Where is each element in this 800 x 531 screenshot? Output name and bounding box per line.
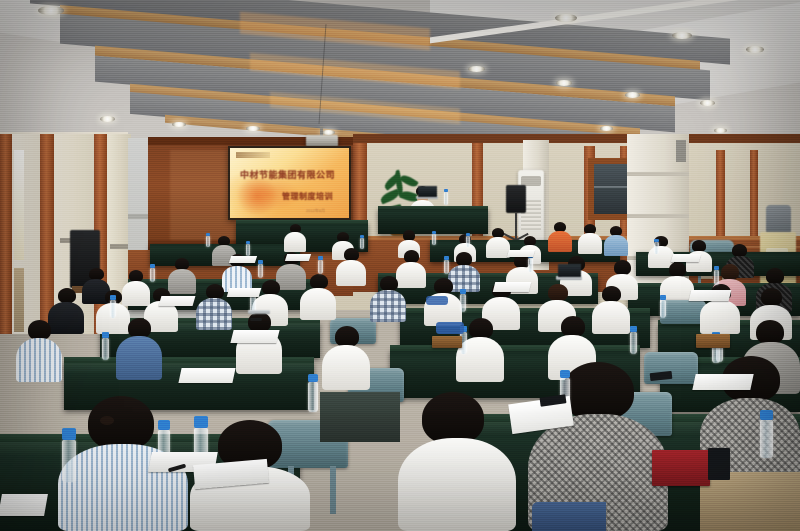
downlight xyxy=(556,80,572,86)
water-bottle xyxy=(444,260,449,274)
attendee xyxy=(578,224,602,254)
water-bottle xyxy=(466,236,470,247)
laptop xyxy=(248,310,270,314)
water-bottle xyxy=(444,192,448,205)
water-bottle xyxy=(62,440,76,482)
attendee xyxy=(16,320,62,382)
water-bottle xyxy=(110,300,116,318)
downlight xyxy=(700,100,715,106)
attendee xyxy=(236,312,282,374)
attendee xyxy=(300,274,336,320)
handout-paper xyxy=(227,288,262,297)
water-bottle xyxy=(206,236,210,247)
downlight xyxy=(246,126,260,131)
attendee xyxy=(398,392,516,531)
handout-paper xyxy=(507,250,535,257)
downlight xyxy=(38,6,64,15)
slide-subtitle: 管理制度培训 xyxy=(282,192,346,201)
attendee xyxy=(322,326,370,390)
downlight xyxy=(672,32,692,39)
conference-room-photo: 中材节能集团有限公司 管理制度培训 2012年8月 xyxy=(0,0,800,531)
water-bottle xyxy=(714,270,719,285)
water-bottle xyxy=(432,234,436,245)
water-bottle xyxy=(460,294,466,312)
water-dispenser-bottle xyxy=(766,205,791,233)
attendee xyxy=(336,248,366,286)
handout-paper xyxy=(230,330,279,343)
downlight xyxy=(468,66,485,72)
water-bottle xyxy=(102,338,109,360)
water-bottle xyxy=(318,260,323,274)
folded-cloth xyxy=(426,296,448,305)
water-bottle xyxy=(528,258,533,272)
water-bottle xyxy=(258,264,263,278)
pen xyxy=(250,318,262,321)
floor-speaker xyxy=(506,185,526,213)
attendee xyxy=(116,318,162,380)
handout-paper xyxy=(689,290,732,301)
handout-paper xyxy=(671,254,701,262)
downlight xyxy=(625,92,640,98)
water-bottle xyxy=(660,300,666,318)
ceiling xyxy=(0,0,800,150)
water-bottle xyxy=(654,242,659,254)
handout-paper xyxy=(0,494,48,516)
downlight xyxy=(555,14,577,22)
attendee xyxy=(370,276,406,322)
slide-logo xyxy=(236,152,270,158)
water-bottle xyxy=(150,268,155,282)
attendee xyxy=(284,224,306,252)
handout-paper xyxy=(178,368,235,383)
folded-cloth xyxy=(436,322,464,334)
wall-trim xyxy=(0,134,12,334)
red-notebook xyxy=(652,450,710,486)
handout-paper xyxy=(493,282,531,292)
downlight xyxy=(172,122,186,127)
slide-footer: 2012年8月 xyxy=(306,208,325,214)
water-bottle xyxy=(308,382,318,412)
water-bottle xyxy=(360,238,364,249)
slide-content: 中材节能集团有限公司 管理制度培训 2012年8月 xyxy=(230,148,349,218)
attendee xyxy=(548,222,572,252)
aisle-floor xyxy=(320,392,400,442)
downlight xyxy=(100,116,115,122)
attendee xyxy=(528,362,668,531)
attendee xyxy=(604,226,628,256)
downlight xyxy=(600,126,613,131)
phone xyxy=(708,448,730,480)
water-bottle xyxy=(630,332,637,354)
brown-notebook xyxy=(696,334,730,348)
attendee xyxy=(196,284,232,330)
handout-paper xyxy=(159,296,196,306)
attendee xyxy=(592,286,630,334)
water-bottle xyxy=(760,420,773,458)
projection-screen: 中材节能集团有限公司 管理制度培训 2012年8月 xyxy=(228,146,351,220)
handout-paper xyxy=(285,254,311,261)
handout-paper xyxy=(229,256,257,263)
water-bottle xyxy=(246,244,250,256)
downlight xyxy=(714,128,727,133)
downlight xyxy=(746,46,764,53)
brown-notebook xyxy=(432,336,462,348)
handout-paper xyxy=(692,374,753,390)
